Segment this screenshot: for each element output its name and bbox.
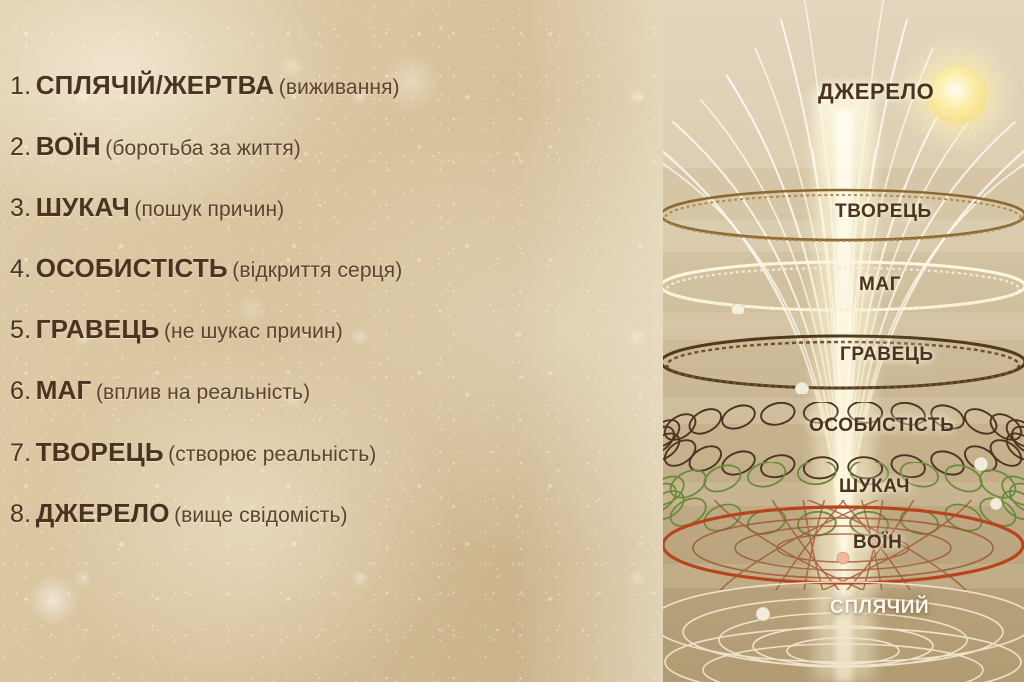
consciousness-pyramid-diagram: ДЖЕРЕЛО ТВОРЕЦЬ МАГ ГРАВЕЦЬ ОСОБИСТІСТЬ … xyxy=(663,0,1024,682)
list-item-description: (боротьба за життя) xyxy=(105,137,301,160)
list-item-number: 4. xyxy=(10,255,31,283)
list-item: 8. ДЖЕРЕЛО (вище свідомість) xyxy=(10,498,348,529)
list-item-description: (пошук причин) xyxy=(134,198,284,221)
list-item-description: (вплив на реальність) xyxy=(96,381,310,404)
diagram-label-player: ГРАВЕЦЬ xyxy=(840,344,934,366)
list-item-number: 8. xyxy=(10,500,31,528)
list-item-description: (не шукас причин) xyxy=(164,320,343,343)
list-item: 3. ШУКАЧ (пошук причин) xyxy=(10,192,284,223)
list-item-description: (створює реальність) xyxy=(168,443,376,466)
list-item-description: (виживання) xyxy=(279,76,400,99)
levels-list-panel: 1. СПЛЯЧІЙ/ЖЕРТВА (виживання) 2. ВОЇН (б… xyxy=(0,0,663,682)
list-item-description: (відкриття серця) xyxy=(232,259,402,282)
diagram-label-personality: ОСОБИСТІСТЬ xyxy=(809,415,954,437)
consciousness-level-list: 1. СПЛЯЧІЙ/ЖЕРТВА (виживання) 2. ВОЇН (б… xyxy=(0,0,663,682)
diagram-label-seeker: ШУКАЧ xyxy=(839,476,910,498)
list-item: 1. СПЛЯЧІЙ/ЖЕРТВА (виживання) xyxy=(10,70,400,101)
list-item: 6. МАГ (вплив на реальність) xyxy=(10,375,310,406)
diagram-label-warrior: ВОЇН xyxy=(853,532,902,554)
list-item-name: ОСОБИСТІСТЬ xyxy=(36,253,228,283)
diagram-label-source: ДЖЕРЕЛО xyxy=(818,79,934,105)
list-item-number: 3. xyxy=(10,194,31,222)
list-item-name: СПЛЯЧІЙ/ЖЕРТВА xyxy=(36,70,275,100)
list-item-name: ВОЇН xyxy=(36,131,101,161)
slide-root: 1. СПЛЯЧІЙ/ЖЕРТВА (виживання) 2. ВОЇН (б… xyxy=(0,0,1024,682)
list-item: 2. ВОЇН (боротьба за життя) xyxy=(10,131,301,162)
diagram-label-creator: ТВОРЕЦЬ xyxy=(835,201,932,223)
list-item-number: 5. xyxy=(10,316,31,344)
list-item-name: ШУКАЧ xyxy=(36,192,130,222)
list-item-description: (вище свідомість) xyxy=(174,504,348,527)
list-item: 4. ОСОБИСТІСТЬ (відкриття серця) xyxy=(10,253,402,284)
diagram-label-mage: МАГ xyxy=(859,274,901,296)
list-item-name: МАГ xyxy=(36,375,92,405)
ring-mage xyxy=(663,258,1024,314)
list-item-number: 7. xyxy=(10,439,31,467)
list-item-number: 1. xyxy=(10,72,31,100)
list-item: 5. ГРАВЕЦЬ (не шукас причин) xyxy=(10,314,343,345)
ring-sleeper xyxy=(663,566,1024,682)
list-item-name: ТВОРЕЦЬ xyxy=(36,437,164,467)
list-item: 7. ТВОРЕЦЬ (створює реальність) xyxy=(10,437,376,468)
list-item-name: ДЖЕРЕЛО xyxy=(36,498,170,528)
diagram-label-sleeper: СПЛЯЧИЙ xyxy=(830,597,929,619)
list-item-number: 6. xyxy=(10,377,31,405)
list-item-name: ГРАВЕЦЬ xyxy=(36,314,160,344)
list-item-number: 2. xyxy=(10,133,31,161)
